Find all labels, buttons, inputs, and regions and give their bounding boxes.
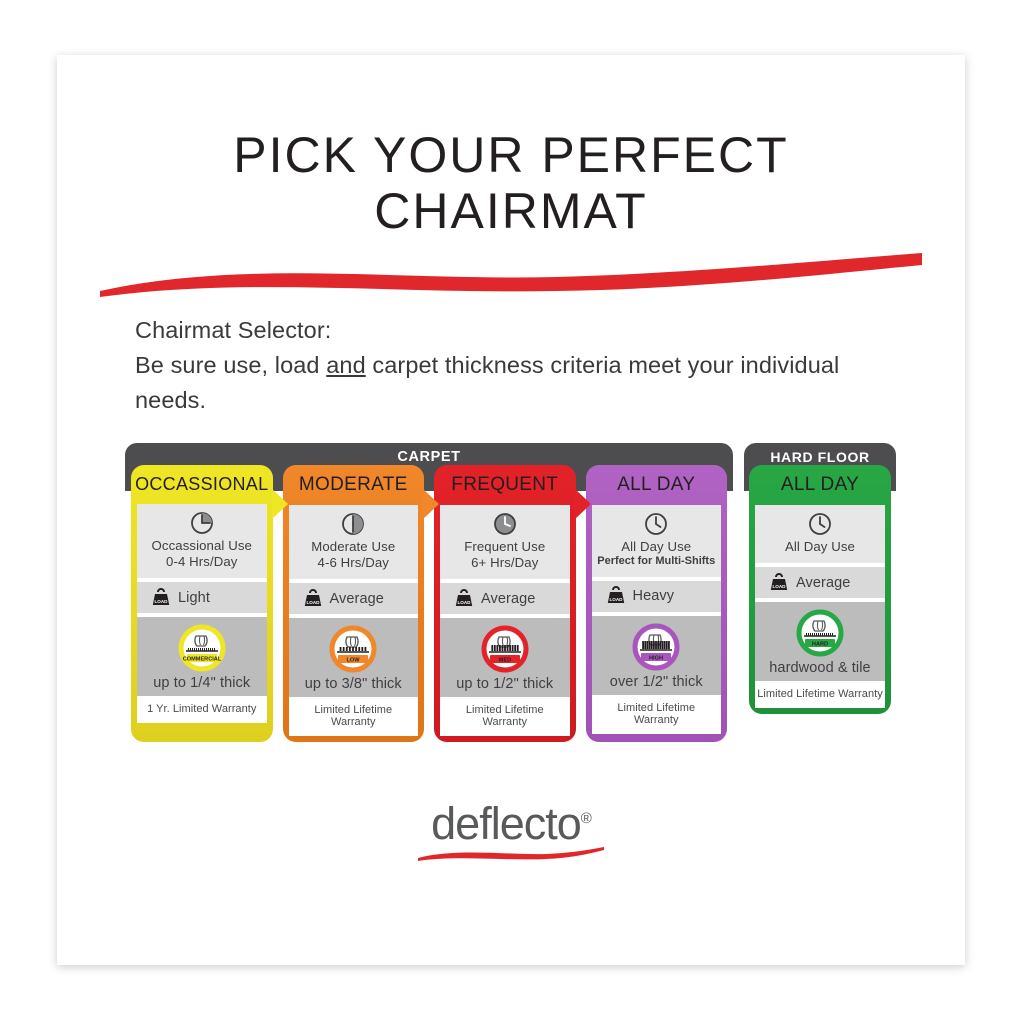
svg-text:HIGH: HIGH (649, 655, 663, 661)
title-swoosh-divider (57, 251, 965, 297)
thickness-label-occasional: up to 1/4" thick (141, 675, 263, 691)
load-label-frequent: Average (481, 591, 535, 607)
load-weight-icon: LOAD (768, 572, 790, 594)
load-cell-all-day-carpet: LOADHeavy (592, 581, 722, 612)
warranty-label-all-day-carpet: Limited Lifetime Warranty (592, 695, 722, 734)
page-title-line-1: PICK YOUR PERFECT (97, 127, 925, 183)
clock-icon (340, 511, 366, 537)
clock-icon (643, 511, 669, 537)
column-body-all-day-carpet: All Day UsePerfect for Multi-ShiftsLOADH… (592, 505, 722, 733)
intro-body-before: Be sure use, load (135, 352, 326, 378)
use-main-text-all-day-carpet: All Day Use (596, 539, 718, 555)
warranty-label-moderate: Limited Lifetime Warranty (289, 697, 419, 736)
use-main-text-occasional: Occassional Use (141, 538, 263, 554)
column-header-moderate: MODERATE (283, 465, 425, 505)
flow-arrow-occasional (272, 489, 288, 519)
clock-icon (807, 511, 833, 537)
caster-hardfloor-badge-icon: HARD (796, 609, 844, 657)
chart-column-occasional[interactable]: OCCASSIONALOccassional Use0-4 Hrs/DayLOA… (131, 465, 273, 742)
use-cell-all-day-hard: All Day Use (755, 505, 885, 563)
svg-text:MED: MED (499, 658, 511, 664)
column-body-frequent: Frequent Use6+ Hrs/DayLOADAverageMEDup t… (440, 505, 570, 736)
caster-carpet-badge-icon: COMMERCIAL (178, 624, 226, 672)
svg-text:LOAD: LOAD (154, 599, 168, 604)
use-sub-text-all-day-carpet: Perfect for Multi-Shifts (596, 555, 718, 568)
thickness-cell-all-day-carpet: HIGHover 1/2" thick (592, 616, 722, 695)
load-weight-icon: LOAD (302, 588, 324, 610)
column-header-all-day-hard: ALL DAY (749, 465, 891, 505)
chart-column-all-day-carpet[interactable]: ALL DAYAll Day UsePerfect for Multi-Shif… (586, 465, 728, 742)
clock-icon (189, 510, 215, 536)
thickness-cell-occasional: COMMERCIALup to 1/4" thick (137, 617, 267, 696)
thickness-cell-moderate: LOWup to 3/8" thick (289, 618, 419, 697)
logo-wordmark: deflecto® (431, 798, 591, 850)
intro-body-emphasis: and (326, 352, 366, 378)
load-label-all-day-hard: Average (796, 575, 850, 591)
page-title-line-2: CHAIRMAT (97, 183, 925, 239)
chart-column-moderate[interactable]: MODERATEModerate Use4-6 Hrs/DayLOADAvera… (283, 465, 425, 742)
caster-carpet-badge-icon: HIGH (632, 623, 680, 671)
infographic-card: PICK YOUR PERFECT CHAIRMAT Chairmat Sele… (57, 55, 965, 965)
caster-carpet-badge-icon: MED (481, 625, 529, 673)
thickness-label-all-day-carpet: over 1/2" thick (596, 674, 718, 690)
use-sub-text-frequent: 6+ Hrs/Day (444, 555, 566, 571)
flow-arrow-frequent (575, 489, 591, 519)
load-label-all-day-carpet: Heavy (633, 588, 675, 604)
page-title: PICK YOUR PERFECT CHAIRMAT (57, 127, 965, 239)
use-sub-text-moderate: 4-6 Hrs/Day (293, 555, 415, 571)
column-body-moderate: Moderate Use4-6 Hrs/DayLOADAverageLOWup … (289, 505, 419, 736)
thickness-cell-all-day-hard: HARDhardwood & tile (755, 602, 885, 681)
hard-floor-columns: ALL DAYAll Day UseLOADAverageHARDhardwoo… (744, 465, 896, 714)
svg-text:LOAD: LOAD (772, 584, 786, 589)
svg-text:LOAD: LOAD (457, 600, 471, 605)
load-cell-occasional: LOADLight (137, 582, 267, 613)
warranty-label-occasional: 1 Yr. Limited Warranty (137, 696, 267, 723)
thickness-label-frequent: up to 1/2" thick (444, 676, 566, 692)
intro-heading: Chairmat Selector: (135, 313, 895, 348)
carpet-columns: OCCASSIONALOccassional Use0-4 Hrs/DayLOA… (125, 465, 733, 742)
column-header-frequent: FREQUENT (434, 465, 576, 505)
use-cell-moderate: Moderate Use4-6 Hrs/Day (289, 505, 419, 579)
red-swoosh-icon (96, 251, 926, 297)
flow-arrow-moderate (423, 489, 439, 519)
intro-body: Be sure use, load and carpet thickness c… (135, 348, 895, 418)
chairmat-selector-chart: CARPET OCCASSIONALOccassional Use0-4 Hrs… (125, 443, 901, 742)
brand-logo: deflecto® (57, 798, 965, 862)
load-label-occasional: Light (178, 590, 210, 606)
column-header-occasional: OCCASSIONAL (131, 465, 273, 504)
svg-text:LOW: LOW (347, 658, 361, 664)
use-sub-text-occasional: 0-4 Hrs/Day (141, 554, 263, 570)
load-weight-icon: LOAD (150, 587, 172, 609)
svg-text:COMMERCIAL: COMMERCIAL (182, 657, 221, 663)
use-cell-occasional: Occassional Use0-4 Hrs/Day (137, 504, 267, 578)
column-header-all-day-carpet: ALL DAY (586, 465, 728, 505)
thickness-label-all-day-hard: hardwood & tile (759, 660, 881, 676)
chart-group-carpet: CARPET OCCASSIONALOccassional Use0-4 Hrs… (125, 443, 733, 742)
use-main-text-frequent: Frequent Use (444, 539, 566, 555)
thickness-label-moderate: up to 3/8" thick (293, 676, 415, 692)
load-cell-moderate: LOADAverage (289, 583, 419, 614)
column-body-all-day-hard: All Day UseLOADAverageHARDhardwood & til… (755, 505, 885, 708)
thickness-cell-frequent: MEDup to 1/2" thick (440, 618, 570, 697)
load-cell-all-day-hard: LOADAverage (755, 567, 885, 598)
svg-text:HARD: HARD (812, 642, 828, 648)
chart-group-hard-floor: HARD FLOOR ALL DAYAll Day UseLOADAverage… (744, 443, 896, 714)
warranty-label-all-day-hard: Limited Lifetime Warranty (755, 681, 885, 708)
use-cell-all-day-carpet: All Day UsePerfect for Multi-Shifts (592, 505, 722, 576)
use-main-text-moderate: Moderate Use (293, 539, 415, 555)
chart-column-all-day-hard[interactable]: ALL DAYAll Day UseLOADAverageHARDhardwoo… (749, 465, 891, 714)
svg-text:LOAD: LOAD (306, 600, 320, 605)
svg-text:LOAD: LOAD (609, 597, 623, 602)
use-cell-frequent: Frequent Use6+ Hrs/Day (440, 505, 570, 579)
registered-trademark-icon: ® (581, 810, 591, 827)
load-weight-icon: LOAD (453, 588, 475, 610)
use-main-text-all-day-hard: All Day Use (759, 539, 881, 555)
clock-icon (492, 511, 518, 537)
warranty-label-frequent: Limited Lifetime Warranty (440, 697, 570, 736)
load-weight-icon: LOAD (605, 585, 627, 607)
load-cell-frequent: LOADAverage (440, 583, 570, 614)
load-label-moderate: Average (330, 591, 384, 607)
chart-column-frequent[interactable]: FREQUENTFrequent Use6+ Hrs/DayLOADAverag… (434, 465, 576, 742)
intro-copy: Chairmat Selector: Be sure use, load and… (135, 313, 895, 417)
column-body-occasional: Occassional Use0-4 Hrs/DayLOADLightCOMME… (137, 504, 267, 723)
logo-text: deflecto (431, 798, 581, 849)
caster-carpet-badge-icon: LOW (329, 625, 377, 673)
